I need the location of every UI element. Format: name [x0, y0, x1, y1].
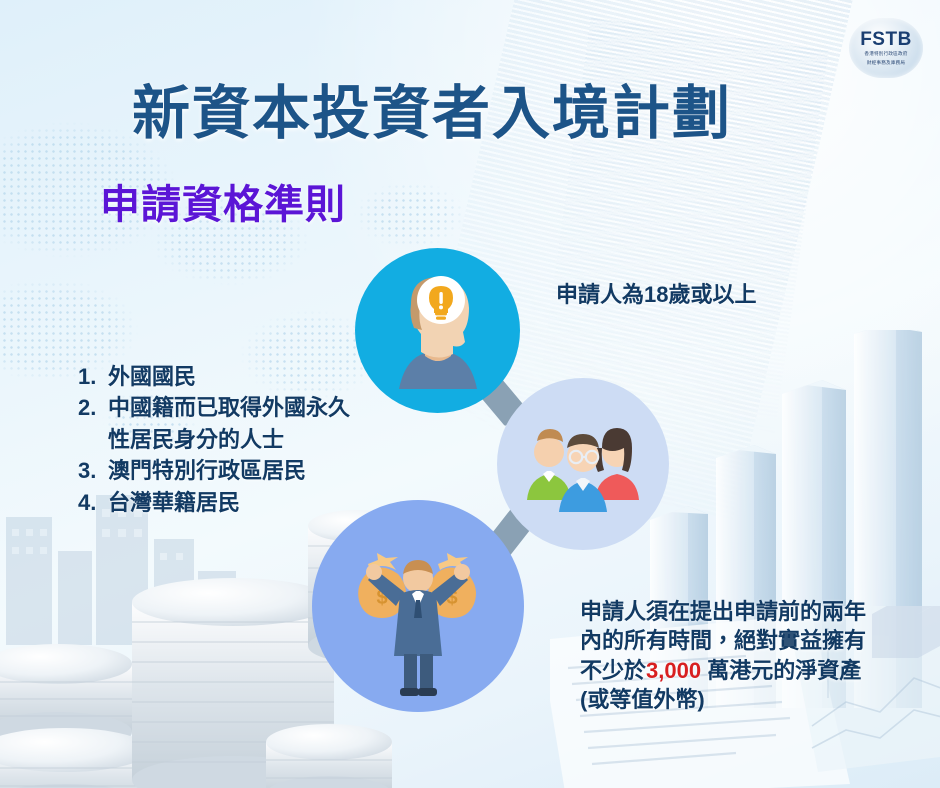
fstb-logo: FSTB 香港特別行政區政府 財經事務及庫務局 — [849, 18, 923, 78]
list-item-label: 台灣華籍居民 — [108, 488, 240, 517]
section-subtitle: 申請資格準則 — [100, 172, 346, 230]
assets-amount-highlight: 3,000 — [646, 658, 701, 683]
list-item: 2. 中國籍而已取得外國永久 — [78, 393, 350, 422]
fstb-logo-line2: 財經事務及庫務局 — [867, 60, 905, 67]
list-item-label: 澳門特別行政區居民 — [108, 456, 306, 485]
fstb-logo-mark: FSTB — [860, 30, 912, 49]
person-idea-icon — [355, 248, 520, 413]
net-assets-criteria-circle: $ $ — [312, 500, 524, 712]
eligibility-list: 1. 外國國民 2. 中國籍而已取得外國永久 性居民身分的人士 3. 澳門特別行… — [78, 362, 350, 519]
fstb-logo-line1: 香港特別行政區政府 — [864, 51, 907, 58]
list-item: 1. 外國國民 — [78, 362, 350, 391]
list-item-number — [78, 425, 108, 454]
list-item-number: 4. — [78, 488, 108, 517]
list-item-label: 中國籍而已取得外國永久 — [108, 393, 350, 422]
assets-text-line2: 內的所有時間，絕對實益擁有 — [580, 628, 866, 653]
list-item: 4. 台灣華籍居民 — [78, 488, 350, 517]
assets-text-line3-suffix: 萬港元的淨資產 — [701, 658, 861, 683]
list-item-number: 3. — [78, 456, 108, 485]
net-assets-requirement-text: 申請人須在提出申請前的兩年 內的所有時間，絕對實益擁有 不少於3,000 萬港元… — [580, 597, 928, 714]
page-title: 新資本投資者入境計劃 — [132, 66, 732, 150]
infographic-poster: 新資本投資者入境計劃 申請資格準則 FSTB 香港特別行政區政府 財經事務及庫務… — [0, 0, 940, 788]
list-item-number: 2. — [78, 393, 108, 422]
list-item-continuation: 性居民身分的人士 — [78, 425, 350, 454]
list-item-label: 外國國民 — [108, 362, 196, 391]
list-item-label: 性居民身分的人士 — [108, 425, 284, 454]
list-item: 3. 澳門特別行政區居民 — [78, 456, 350, 485]
list-item-number: 1. — [78, 362, 108, 391]
businessman-money-bags-icon: $ $ — [312, 500, 524, 712]
assets-text-line1: 申請人須在提出申請前的兩年 — [580, 599, 866, 624]
assets-text-line3-prefix: 不少於 — [580, 658, 646, 683]
age-requirement-text: 申請人為18歲或以上 — [556, 277, 756, 309]
assets-text-line4: (或等值外幣) — [580, 687, 705, 712]
age-criteria-circle — [355, 248, 520, 413]
